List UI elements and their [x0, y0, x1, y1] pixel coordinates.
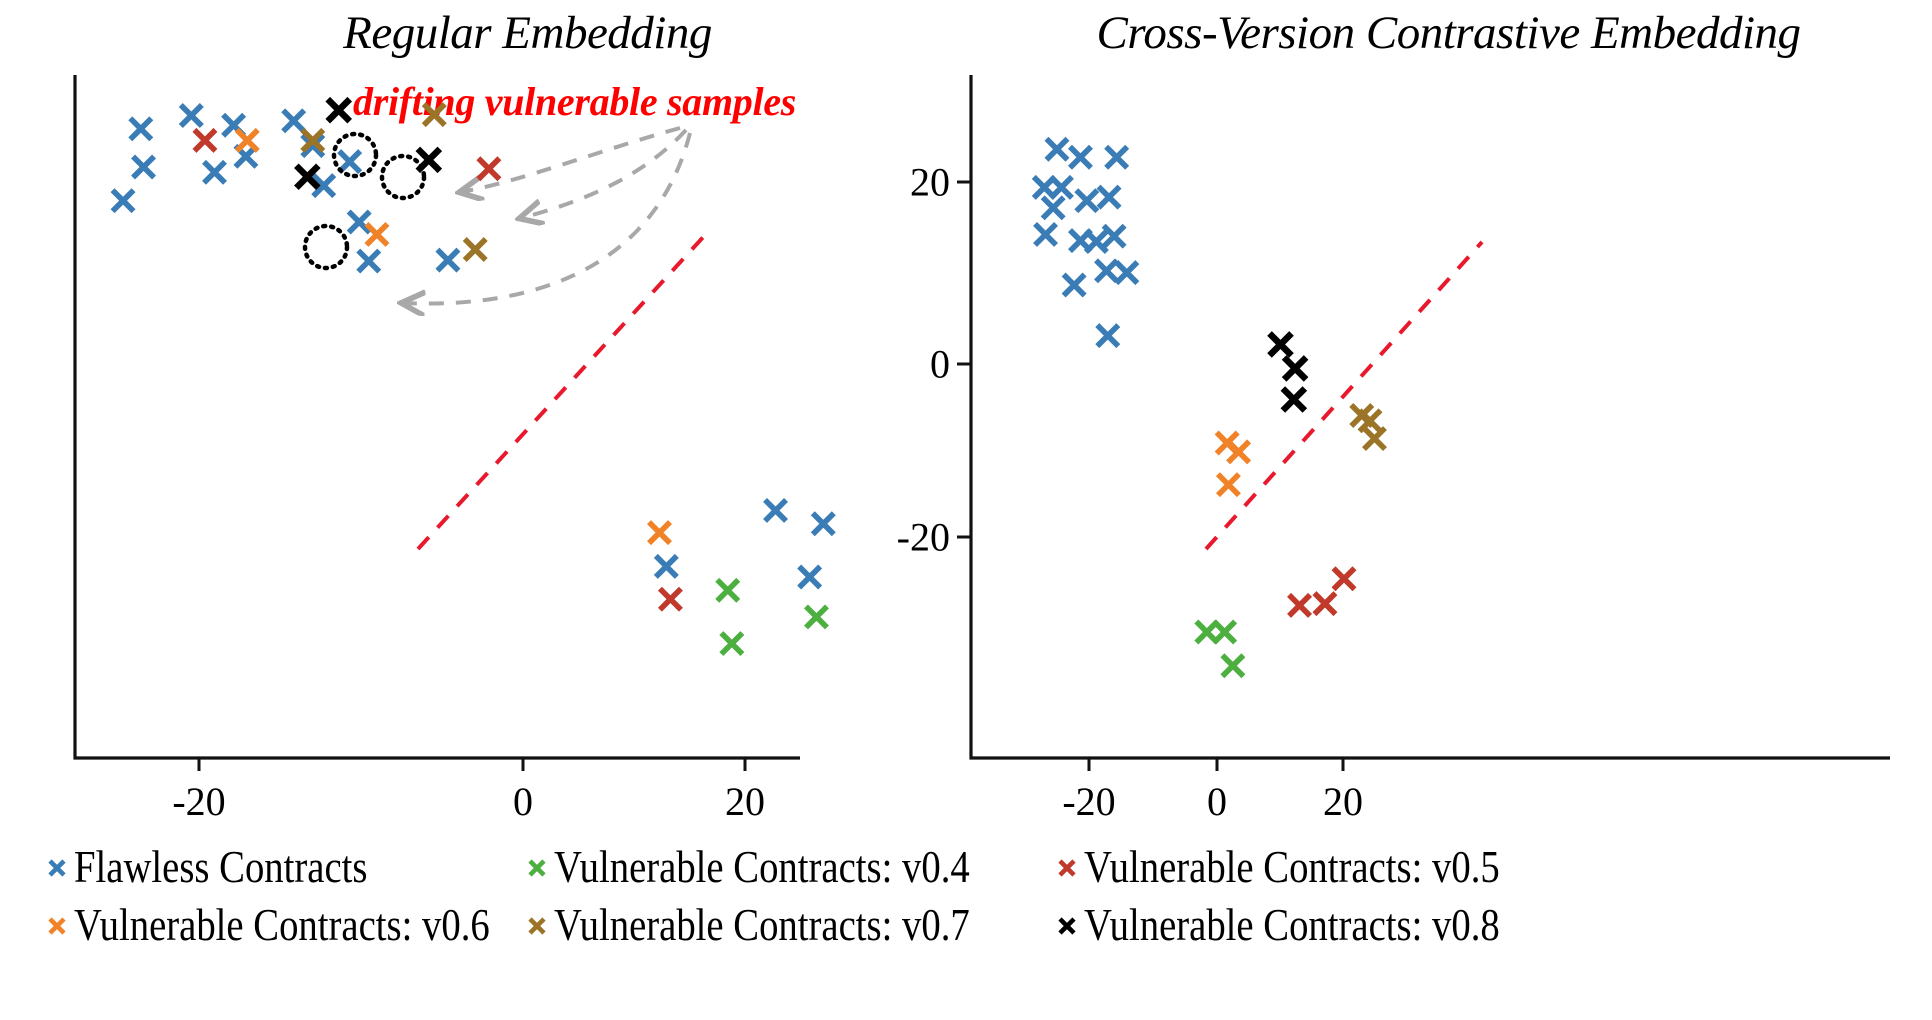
left-xtick-minus20: -20 [172, 778, 225, 825]
scatter-point [465, 239, 486, 260]
legend-item-v06[interactable]: Vulnerable Contracts: v0.6 [42, 903, 522, 948]
scatter-point [1076, 190, 1097, 211]
series-vulnerable-contracts-v0-6 [237, 130, 670, 543]
scatter-point [478, 158, 499, 179]
scatter-point [366, 224, 387, 245]
legend-label: Vulnerable Contracts: v0.8 [1084, 903, 1500, 948]
scatter-point [1217, 432, 1238, 453]
series-vulnerable-contracts-v0-5 [194, 130, 680, 610]
scatter-point [806, 606, 827, 627]
scatter-point [235, 146, 256, 167]
right-ytick-minus20: -20 [840, 514, 950, 561]
scatter-point [283, 110, 304, 131]
scatter-point [1214, 622, 1235, 643]
series-vulnerable-contracts-v0-4 [717, 580, 827, 654]
right-decision-boundary [1206, 242, 1482, 549]
legend-label: Vulnerable Contracts: v0.6 [74, 903, 490, 948]
scatter-point [237, 130, 258, 151]
scatter-point [358, 251, 379, 272]
panel-title-right: Cross-Version Contrastive Embedding [971, 6, 1926, 60]
scatter-point [349, 212, 370, 233]
x-marker-icon [42, 911, 72, 941]
scatter-point [113, 190, 134, 211]
scatter-point [1097, 325, 1118, 346]
scatter-point [204, 162, 225, 183]
right-ytick-0: 0 [840, 341, 950, 388]
legend-label: Vulnerable Contracts: v0.4 [554, 845, 970, 890]
scatter-point [1196, 622, 1217, 643]
scatter-point [1222, 655, 1243, 676]
scatter-point [1051, 177, 1072, 198]
scatter-point [1070, 147, 1091, 168]
scatter-point [339, 151, 360, 172]
scatter-point [223, 115, 244, 136]
series-vulnerable-contracts-v0-5 [1289, 568, 1354, 616]
scatter-point [1116, 262, 1137, 283]
scatter-point [328, 99, 350, 121]
legend-item-flawless[interactable]: Flawless Contracts [42, 845, 522, 890]
scatter-point [1351, 405, 1372, 426]
scatter-point [1099, 187, 1120, 208]
left-xtick-20: 20 [725, 778, 765, 825]
scatter-point [1289, 595, 1310, 616]
scatter-point [656, 556, 677, 577]
scatter-point [296, 166, 318, 188]
x-marker-icon [522, 911, 552, 941]
scatter-point [721, 633, 742, 654]
series-flawless-contracts [1034, 139, 1138, 346]
series-vulnerable-contracts-v0-7 [1351, 405, 1385, 449]
right-axes-spines [957, 75, 1890, 771]
scatter-point [649, 522, 670, 543]
scatter-point [765, 500, 786, 521]
scatter-point [1334, 568, 1355, 589]
series-vulnerable-contracts-v0-6 [1217, 432, 1249, 495]
legend-label: Vulnerable Contracts: v0.5 [1084, 845, 1500, 890]
x-marker-icon [42, 853, 72, 883]
series-vulnerable-contracts-v0-4 [1196, 622, 1243, 677]
scatter-point [1064, 275, 1085, 296]
scatter-point [1270, 333, 1292, 355]
figure-container: Regular Embedding Cross-Version Contrast… [0, 0, 1932, 1020]
scatter-point [1228, 441, 1249, 462]
scatter-point [313, 175, 334, 196]
x-marker-icon [1052, 853, 1082, 883]
scatter-point [1096, 260, 1117, 281]
right-ytick-20: 20 [840, 159, 950, 206]
scatter-point [1314, 593, 1335, 614]
scatter-point [1104, 226, 1125, 247]
x-marker-icon [522, 853, 552, 883]
right-xtick-minus20: -20 [1062, 778, 1115, 825]
drift-arrows [403, 128, 690, 304]
legend-row-1: Flawless Contracts Vulnerable Contracts:… [42, 845, 1922, 903]
right-xtick-20: 20 [1323, 778, 1363, 825]
scatter-point [302, 130, 323, 151]
legend-row-2: Vulnerable Contracts: v0.6 Vulnerable Co… [42, 903, 1922, 961]
scatter-point [1360, 410, 1381, 431]
scatter-point [1043, 197, 1064, 218]
legend-label: Flawless Contracts [74, 845, 367, 890]
scatter-point [1284, 357, 1306, 379]
scatter-point [1283, 389, 1305, 411]
x-marker-icon [1052, 911, 1082, 941]
legend: Flawless Contracts Vulnerable Contracts:… [42, 845, 1922, 961]
scatter-point [1086, 231, 1107, 252]
scatter-point [799, 567, 820, 588]
series-vulnerable-contracts-v0-7 [302, 104, 485, 260]
scatter-point [1070, 230, 1091, 251]
scatter-point [1035, 224, 1056, 245]
scatter-point [181, 105, 202, 126]
series-flawless-contracts [113, 105, 834, 588]
right-data-points [1034, 139, 1385, 677]
right-xtick-0: 0 [1207, 778, 1227, 825]
legend-item-v08[interactable]: Vulnerable Contracts: v0.8 [1052, 903, 1567, 948]
panel-title-left: Regular Embedding [75, 6, 980, 60]
series-vulnerable-contracts-v0-8 [1270, 333, 1307, 410]
legend-item-v04[interactable]: Vulnerable Contracts: v0.4 [522, 845, 1052, 890]
scatter-point [194, 130, 215, 151]
drifting-samples-annotation: drifting vulnerable samples [353, 78, 796, 125]
highlight-circles [305, 134, 424, 268]
scatter-point [717, 580, 738, 601]
legend-label: Vulnerable Contracts: v0.7 [554, 903, 970, 948]
left-data-points [113, 99, 834, 654]
scatter-point [130, 118, 151, 139]
scatter-point [660, 589, 681, 610]
left-xtick-0: 0 [513, 778, 533, 825]
legend-item-v05[interactable]: Vulnerable Contracts: v0.5 [1052, 845, 1567, 890]
scatter-point [1106, 147, 1127, 168]
scatter-point [1046, 139, 1067, 160]
scatter-point [302, 135, 323, 156]
scatter-point [1364, 428, 1385, 449]
scatter-point [437, 250, 458, 271]
scatter-point [1034, 177, 1055, 198]
scatter-point [418, 149, 440, 171]
scatter-point [1218, 474, 1239, 495]
left-axes-spines [75, 75, 800, 771]
scatter-point [813, 513, 834, 534]
scatter-point [133, 156, 154, 177]
legend-item-v07[interactable]: Vulnerable Contracts: v0.7 [522, 903, 1052, 948]
left-decision-boundary [418, 234, 706, 549]
